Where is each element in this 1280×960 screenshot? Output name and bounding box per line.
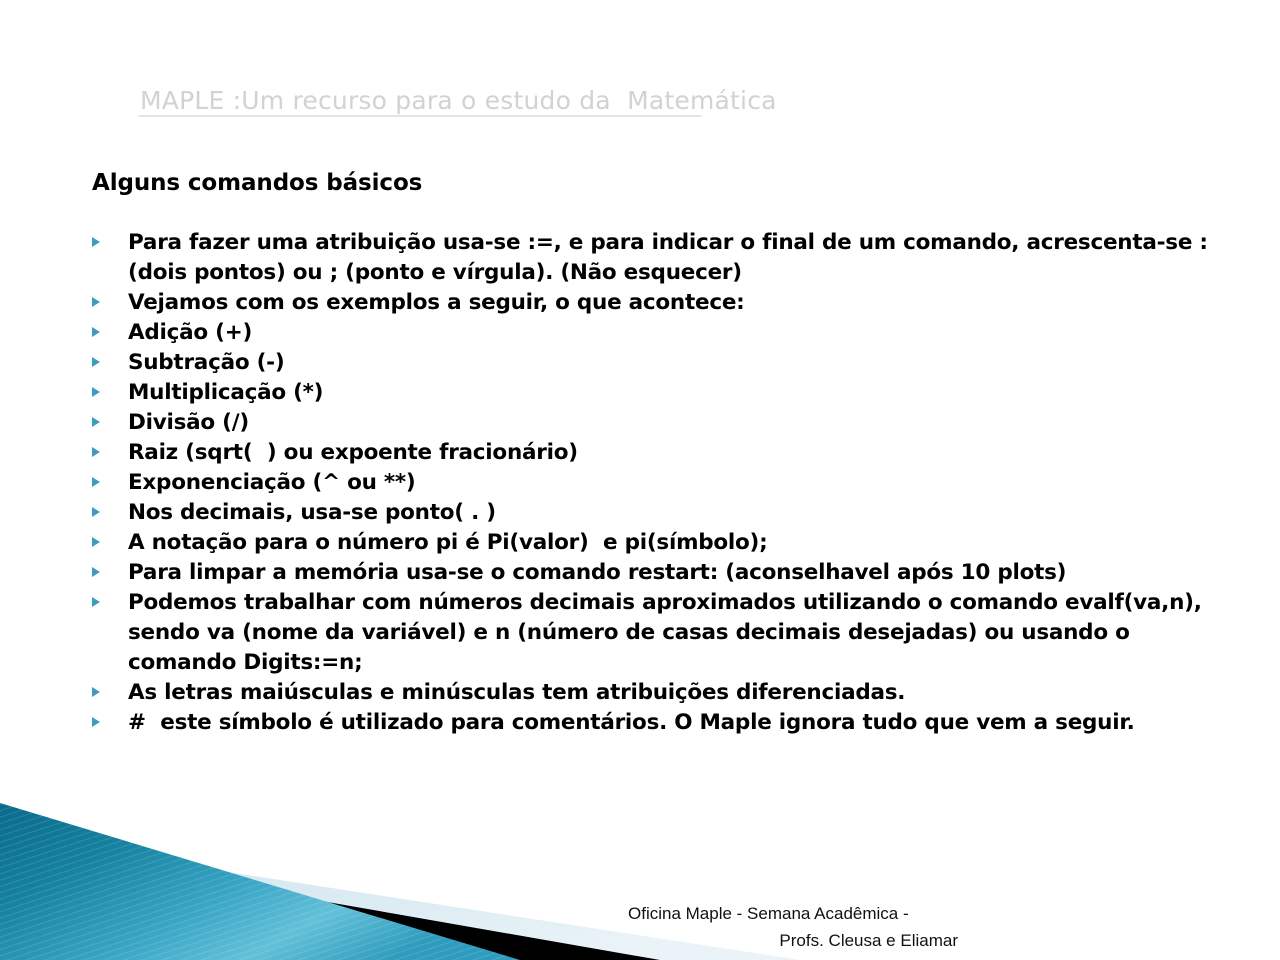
bullet-text: Nos decimais, usa-se ponto( . ) <box>128 498 1212 528</box>
bullet-text: Raiz (sqrt( ) ou expoente fracionário) <box>128 438 1212 468</box>
triangle-right-icon <box>92 387 100 397</box>
triangle-right-icon <box>92 327 100 337</box>
footer-line-1: Oficina Maple - Semana Acadêmica - <box>628 900 958 927</box>
bullet-item: Vejamos com os exemplos a seguir, o que … <box>92 288 1212 318</box>
teal-triangle <box>0 803 520 960</box>
triangle-right-icon <box>92 417 100 427</box>
bullet-text: Exponenciação (^ ou **) <box>128 468 1212 498</box>
bullet-item: Raiz (sqrt( ) ou expoente fracionário) <box>92 438 1212 468</box>
bullet-item: Divisão (/) <box>92 408 1212 438</box>
bullet-text: A notação para o número pi é Pi(valor) e… <box>128 528 1212 558</box>
bullet-text: # este símbolo é utilizado para comentár… <box>128 708 1212 738</box>
title-underline-rule <box>139 115 701 117</box>
footer: Oficina Maple - Semana Acadêmica - Profs… <box>628 900 958 954</box>
bullet-text: Para fazer uma atribuição usa-se :=, e p… <box>128 228 1212 288</box>
triangle-right-icon <box>92 507 100 517</box>
triangle-right-icon <box>92 477 100 487</box>
triangle-right-icon <box>92 597 100 607</box>
bullet-text: Divisão (/) <box>128 408 1212 438</box>
bullet-item: # este símbolo é utilizado para comentár… <box>92 708 1212 738</box>
triangle-right-icon <box>92 537 100 547</box>
triangle-right-icon <box>92 237 100 247</box>
black-wedge <box>0 845 660 960</box>
teal-triangle-texture <box>0 803 520 960</box>
bullet-item: Exponenciação (^ ou **) <box>92 468 1212 498</box>
slide-canvas: MAPLE :Um recurso para o estudo da Matem… <box>0 0 1280 960</box>
triangle-right-icon <box>92 687 100 697</box>
section-heading: Alguns comandos básicos <box>92 170 422 196</box>
triangle-right-icon <box>92 357 100 367</box>
footer-line-2: Profs. Cleusa e Eliamar <box>628 927 958 954</box>
bullet-item: Para limpar a memória usa-se o comando r… <box>92 558 1212 588</box>
bullet-text: Adição (+) <box>128 318 1212 348</box>
triangle-right-icon <box>92 297 100 307</box>
bullet-text: Vejamos com os exemplos a seguir, o que … <box>128 288 1212 318</box>
bullet-item: As letras maiúsculas e minúsculas tem at… <box>92 678 1212 708</box>
bullet-item: Subtração (-) <box>92 348 1212 378</box>
bullet-list: Para fazer uma atribuição usa-se :=, e p… <box>92 228 1212 738</box>
bullet-text: Multiplicação (*) <box>128 378 1212 408</box>
page-title: MAPLE :Um recurso para o estudo da Matem… <box>140 86 777 115</box>
bullet-text: Podemos trabalhar com números decimais a… <box>128 588 1212 678</box>
bullet-item: Para fazer uma atribuição usa-se :=, e p… <box>92 228 1212 288</box>
bullet-text: Para limpar a memória usa-se o comando r… <box>128 558 1212 588</box>
triangle-right-icon <box>92 447 100 457</box>
bullet-item: A notação para o número pi é Pi(valor) e… <box>92 528 1212 558</box>
bullet-item: Nos decimais, usa-se ponto( . ) <box>92 498 1212 528</box>
bullet-text: Subtração (-) <box>128 348 1212 378</box>
bullet-item: Adição (+) <box>92 318 1212 348</box>
bullet-text: As letras maiúsculas e minúsculas tem at… <box>128 678 1212 708</box>
bullet-item: Multiplicação (*) <box>92 378 1212 408</box>
triangle-right-icon <box>92 717 100 727</box>
bullet-item: Podemos trabalhar com números decimais a… <box>92 588 1212 678</box>
triangle-right-icon <box>92 567 100 577</box>
